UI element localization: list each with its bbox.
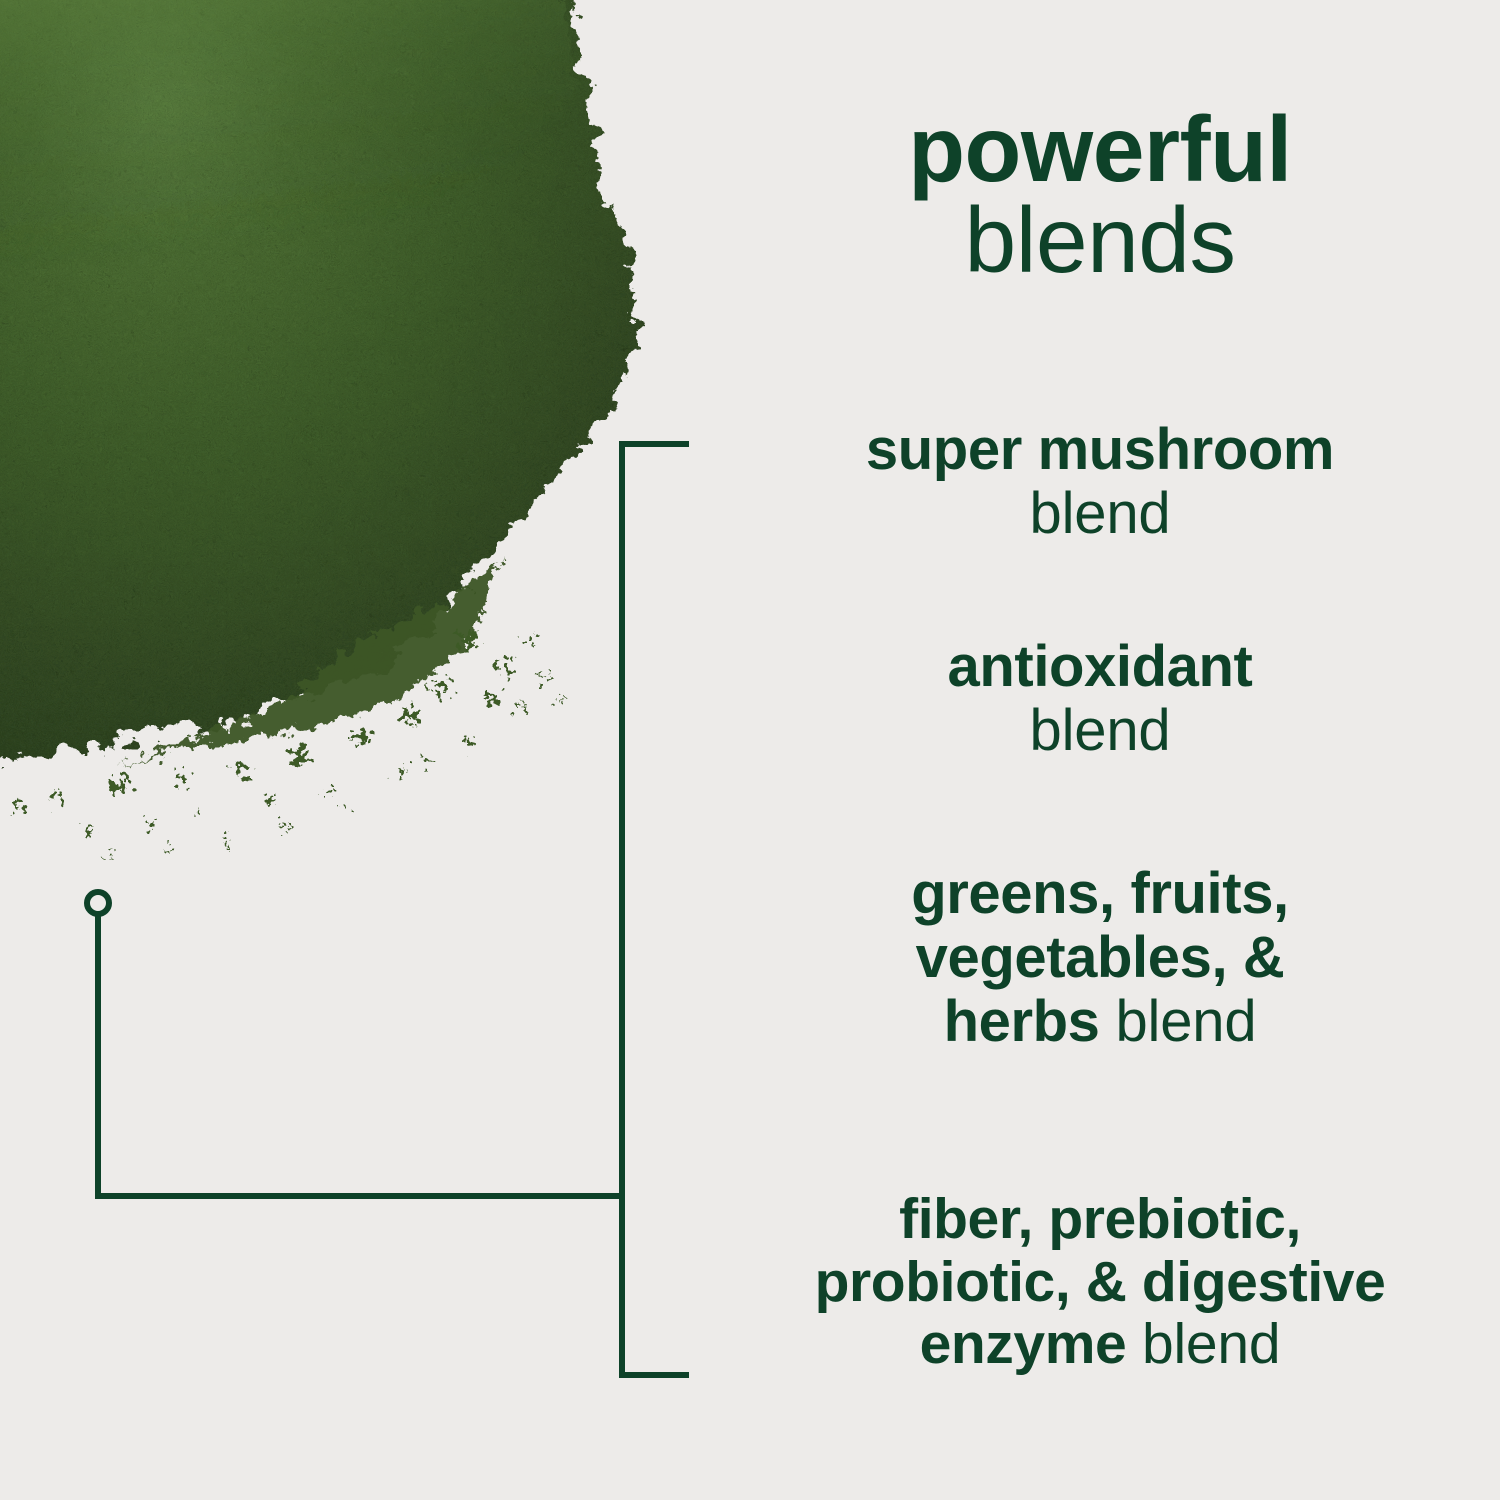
blend-light-line: blend [1115,989,1256,1054]
blend-light-line: blend [700,699,1500,763]
circle-node-icon [87,892,109,914]
blend-strong-line: vegetables, & [700,926,1500,990]
page-title-line-1: powerful [700,104,1500,195]
blend-strong-fragment: herbs [944,989,1100,1054]
blend-strong-fragment: enzyme [920,1312,1127,1376]
blend-strong-line: antioxidant [700,635,1500,699]
blend-light-fragment [1126,1312,1142,1376]
blend-item-fiber-prebiotic-probiotic-digestive-enzyme: fiber, prebiotic, probiotic, & digestive… [700,1188,1500,1376]
blend-strong-line: greens, fruits, [700,862,1500,926]
product-benefits-poster: powerful blends super mushroom blend ant… [0,0,1500,1500]
blend-item-greens-fruits-vegetables-herbs: greens, fruits, vegetables, & herbs blen… [700,862,1500,1053]
blend-item-antioxidant: antioxidant blend [700,635,1500,763]
powder-photo [0,0,700,860]
blend-strong-line: probiotic, & digestive [700,1251,1500,1314]
text-column: powerful blends super mushroom blend ant… [700,0,1500,1500]
page-title: powerful blends [700,104,1500,286]
blend-item-super-mushroom: super mushroom blend [700,418,1500,546]
page-title-line-2: blends [700,195,1500,286]
blend-light-fragment [1100,989,1116,1054]
blend-light-line: blend [1142,1312,1280,1376]
blend-light-line: blend [700,482,1500,546]
blend-final-line: herbs blend [700,990,1500,1054]
blend-strong-line: super mushroom [700,418,1500,482]
blend-strong-line: fiber, prebiotic, [700,1188,1500,1251]
blend-final-line: enzyme blend [700,1313,1500,1376]
